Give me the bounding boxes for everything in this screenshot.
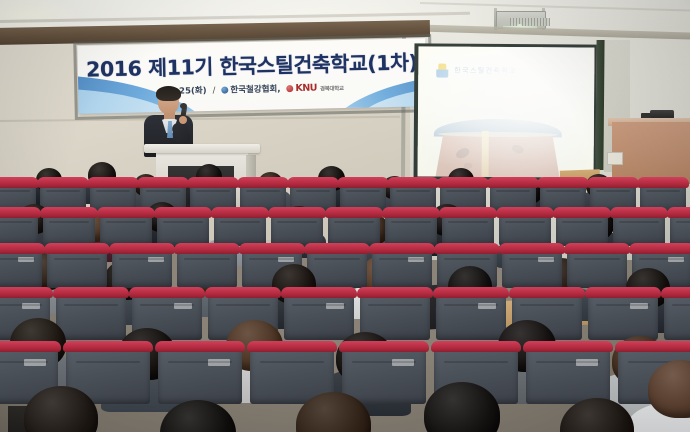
auditorium-seat: [158, 346, 242, 404]
lectern-top: [144, 144, 260, 153]
auditorium-seat: [588, 292, 658, 340]
projector-vent: [510, 18, 550, 26]
auditorium-seat: [157, 212, 209, 246]
auditorium-seat: [47, 248, 107, 288]
seat-number-plate: [478, 303, 496, 309]
presenter-hand: [179, 116, 187, 124]
auditorium-seat: [43, 212, 95, 246]
seat-number-plate: [538, 257, 554, 262]
seat-number-plate: [278, 257, 294, 262]
audience-member-head: [560, 398, 634, 432]
auditorium-seat: [613, 212, 665, 246]
audience-member: [648, 360, 690, 418]
projection-screen: 한국스틸건축학교: [418, 46, 595, 177]
seat-number-plate: [668, 257, 684, 262]
seat-number-plate: [148, 257, 164, 262]
seat-number-plate: [408, 257, 424, 262]
auditorium-seat: [328, 212, 380, 246]
auditorium-seat: [214, 212, 266, 246]
auditorium-seat: [307, 248, 367, 288]
auditorium-seat: [100, 212, 152, 246]
auditorium-seat: [56, 292, 126, 340]
audience-member: [24, 386, 98, 432]
auditorium-seat: [0, 248, 42, 288]
audience-member-head: [648, 360, 690, 418]
auditorium-seat: [112, 248, 172, 288]
audience-member-head: [424, 382, 500, 432]
audience-member: [296, 392, 371, 432]
auditorium-seat: [0, 212, 38, 246]
auditorium-seat: [385, 212, 437, 246]
banner-frame: [73, 34, 433, 120]
auditorium-seat: [271, 212, 323, 246]
audience-member: [424, 382, 500, 432]
auditorium-seat: [526, 346, 610, 404]
presenter-hair: [156, 86, 181, 101]
seat-number-plate: [576, 359, 598, 367]
auditorium-seat: [670, 212, 690, 246]
microphone-head: [180, 103, 187, 109]
auditorium-seat: [567, 248, 627, 288]
seat-number-plate: [326, 303, 344, 309]
seat-number-plate: [630, 303, 648, 309]
auditorium-seat: [502, 248, 562, 288]
audience-member: [560, 398, 634, 432]
auditorium-seat: [442, 212, 494, 246]
lecture-hall-photo: 2016 제11기 한국스틸건축학교(1차) .10.25(화) / 한국철강협…: [0, 0, 690, 432]
auditorium-seat: [664, 292, 690, 340]
seat-number-plate: [174, 303, 192, 309]
seat-number-plate: [24, 359, 46, 367]
screen-glare: [495, 46, 594, 177]
audience-member-head: [160, 400, 236, 432]
seat-number-plate: [208, 359, 230, 367]
auditorium-seat: [372, 248, 432, 288]
audience-member-head: [296, 392, 371, 432]
auditorium-seat: [177, 248, 237, 288]
seat-number-plate: [22, 303, 40, 309]
auditorium-seat: [556, 212, 608, 246]
auditorium-seat: [499, 212, 551, 246]
door-frame: [595, 40, 604, 170]
audience-member: [160, 400, 236, 432]
audience-seating: [0, 160, 690, 432]
audience-member-head: [24, 386, 98, 432]
auditorium-seat: [436, 292, 506, 340]
seat-number-plate: [18, 257, 34, 262]
seat-number-plate: [392, 359, 414, 367]
